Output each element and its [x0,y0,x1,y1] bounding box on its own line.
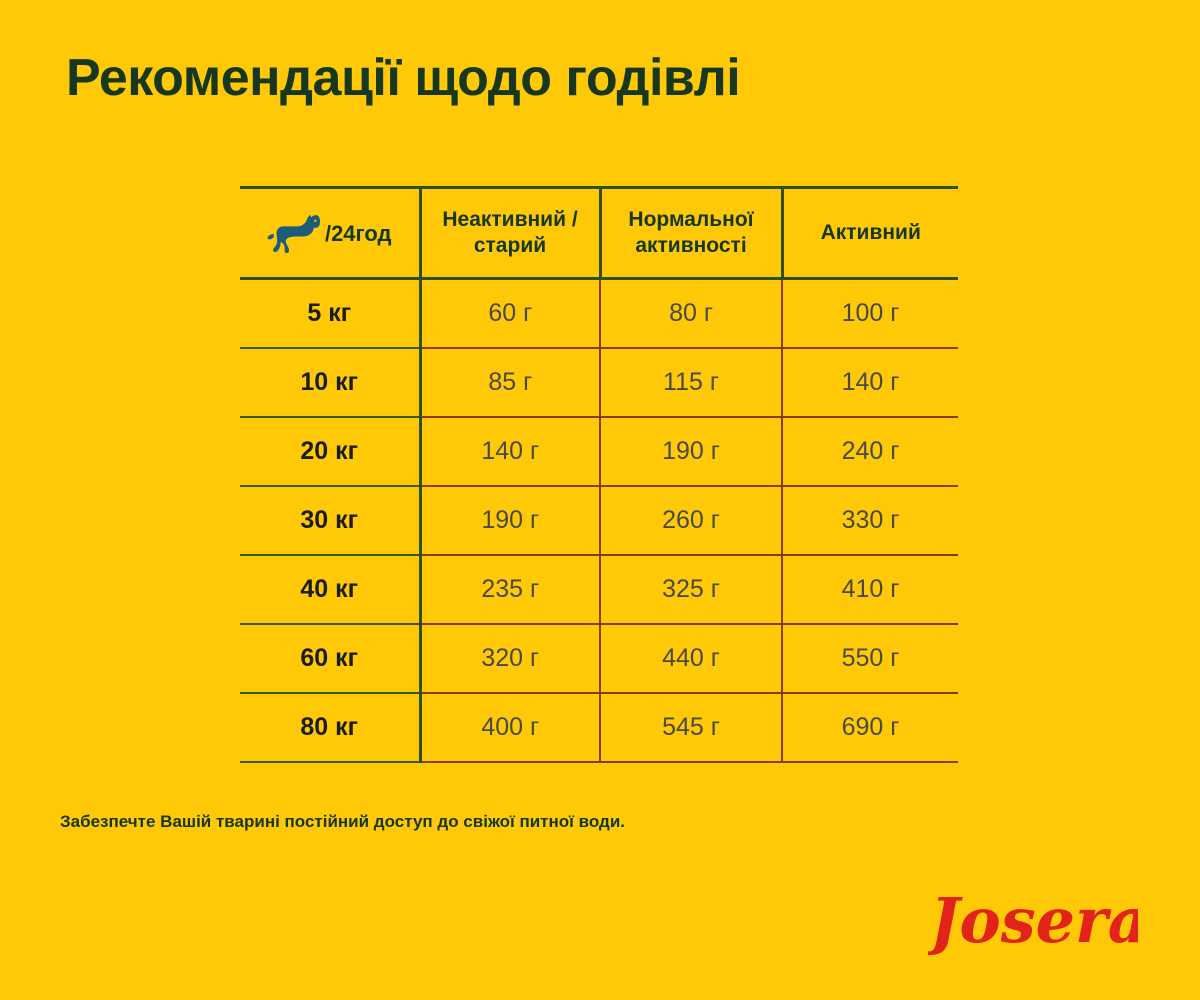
dog-icon [267,213,323,253]
cell-weight: 60 кг [240,624,420,693]
cell-inactive: 140 г [420,417,600,486]
table-row: 40 кг235 г325 г410 г [240,555,958,624]
cell-active: 550 г [782,624,958,693]
table-body: 5 кг60 г80 г100 г10 кг85 г115 г140 г20 к… [240,279,958,763]
header-inactive-line1: Неактивний / [428,207,593,233]
cell-weight: 5 кг [240,279,420,349]
header-normal-activity: Нормальної активності [600,188,782,279]
feeding-recommendation-page: Рекомендації щодо годівлі /24го [0,0,1200,1000]
header-weight-per-24h: /24год [240,188,420,279]
feeding-table: /24год Неактивний / старий Нормальної ак… [240,186,958,763]
table-row: 30 кг190 г260 г330 г [240,486,958,555]
cell-weight: 80 кг [240,693,420,762]
table-row: 60 кг320 г440 г550 г [240,624,958,693]
header-normal-line2: активності [608,233,775,259]
header-per-24h-label: /24год [325,221,392,248]
cell-normal: 260 г [600,486,782,555]
cell-active: 100 г [782,279,958,349]
cell-weight: 20 кг [240,417,420,486]
cell-active: 140 г [782,348,958,417]
cell-inactive: 60 г [420,279,600,349]
cell-weight: 10 кг [240,348,420,417]
table-row: 80 кг400 г545 г690 г [240,693,958,762]
cell-inactive: 235 г [420,555,600,624]
josera-logo-text: Josera [928,886,1138,957]
cell-active: 240 г [782,417,958,486]
cell-normal: 115 г [600,348,782,417]
cell-inactive: 320 г [420,624,600,693]
cell-normal: 545 г [600,693,782,762]
cell-inactive: 190 г [420,486,600,555]
table-header: /24год Неактивний / старий Нормальної ак… [240,188,958,279]
header-normal-line1: Нормальної [608,207,775,233]
cell-weight: 30 кг [240,486,420,555]
header-inactive-old: Неактивний / старий [420,188,600,279]
table-row: 5 кг60 г80 г100 г [240,279,958,349]
cell-active: 330 г [782,486,958,555]
water-access-note: Забезпечте Вашій тварині постійний досту… [60,812,625,832]
cell-weight: 40 кг [240,555,420,624]
cell-active: 410 г [782,555,958,624]
cell-inactive: 400 г [420,693,600,762]
cell-normal: 325 г [600,555,782,624]
header-active: Активний [782,188,958,279]
cell-active: 690 г [782,693,958,762]
cell-normal: 440 г [600,624,782,693]
cell-inactive: 85 г [420,348,600,417]
table-header-row: /24год Неактивний / старий Нормальної ак… [240,188,958,279]
feeding-table-container: /24год Неактивний / старий Нормальної ак… [240,186,958,763]
table-row: 10 кг85 г115 г140 г [240,348,958,417]
cell-normal: 80 г [600,279,782,349]
header-inactive-line2: старий [428,233,593,259]
josera-logo: Josera [928,886,1138,958]
page-title: Рекомендації щодо годівлі [66,48,740,108]
header-active-label: Активний [790,220,953,246]
table-row: 20 кг140 г190 г240 г [240,417,958,486]
cell-normal: 190 г [600,417,782,486]
